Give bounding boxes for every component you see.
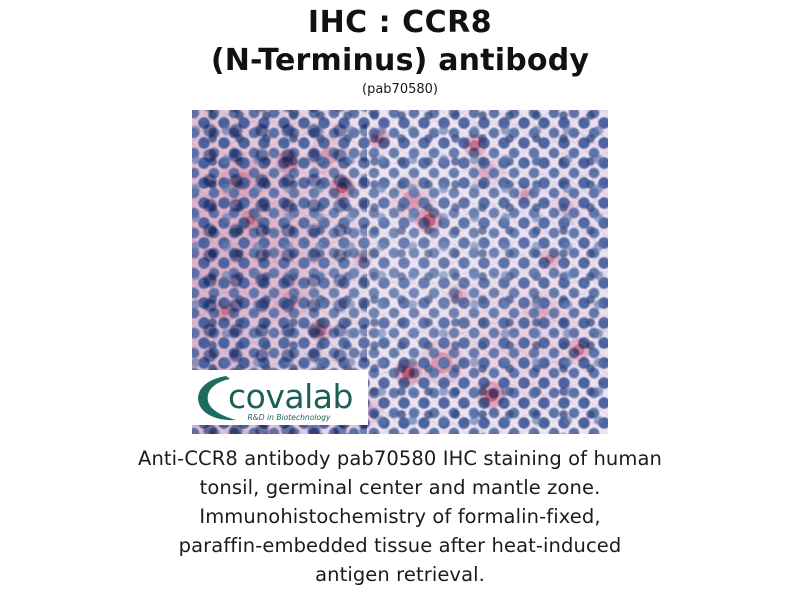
micrograph-container: covalab R&D in Biotechnology <box>192 110 608 434</box>
figure-caption: Anti-CCR8 antibody pab70580 IHC staining… <box>60 444 740 589</box>
catalog-number: (pab70580) <box>0 81 800 99</box>
caption-line: tonsil, germinal center and mantle zone. <box>60 473 740 502</box>
caption-line: antigen retrieval. <box>60 560 740 589</box>
covalab-logo: covalab R&D in Biotechnology <box>192 370 368 425</box>
caption-line: paraffin-embedded tissue after heat-indu… <box>60 531 740 560</box>
figure-header: IHC : CCR8 (N-Terminus) antibody (pab705… <box>0 4 800 99</box>
covalab-logo-svg: covalab R&D in Biotechnology <box>192 370 368 425</box>
caption-line: Immunohistochemistry of formalin-fixed, <box>60 502 740 531</box>
figure-page: IHC : CCR8 (N-Terminus) antibody (pab705… <box>0 0 800 600</box>
page-title-line-1: IHC : CCR8 <box>0 4 800 42</box>
page-title-line-2: (N-Terminus) antibody <box>0 42 800 80</box>
logo-tagline-text: R&D in Biotechnology <box>248 413 331 422</box>
logo-wordmark-text: covalab <box>228 377 353 416</box>
caption-line: Anti-CCR8 antibody pab70580 IHC staining… <box>60 444 740 473</box>
